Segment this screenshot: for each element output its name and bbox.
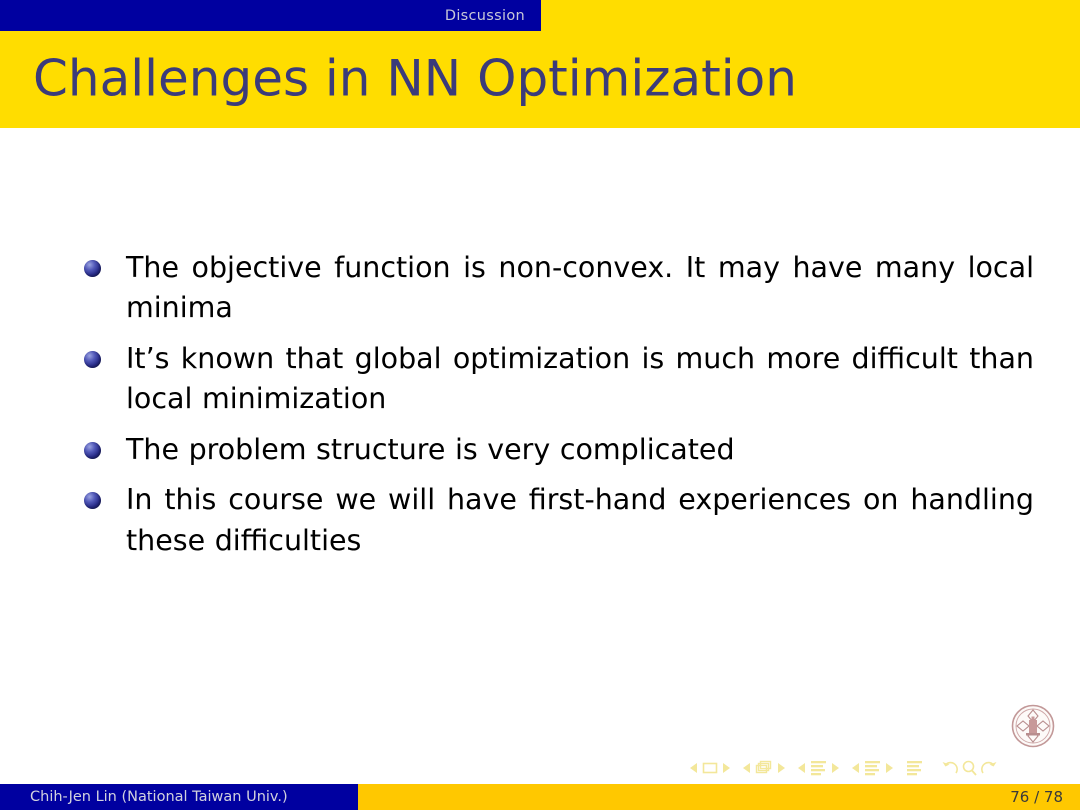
blue-ball-bullet-icon [84,492,101,509]
list-item: The objective function is non-convex. It… [84,248,1034,329]
nav-group-slide[interactable] [690,761,730,775]
list-item: In this course we will have first-hand e… [84,480,1034,561]
slide-icon[interactable] [702,761,718,775]
next-slide-arrow-icon[interactable] [723,763,730,773]
frames-icon[interactable] [755,760,773,776]
forward-icon[interactable] [980,760,998,776]
nav-group-frame[interactable] [743,760,785,776]
next-frame-arrow-icon[interactable] [778,763,785,773]
presentation-slide: Discussion Challenges in NN Optimization… [0,0,1080,810]
slide-content: The objective function is non-convex. It… [0,128,1080,784]
beamer-navigation-symbols[interactable] [690,756,1068,780]
list-item-text: The problem structure is very complicate… [126,433,735,466]
header-section-bar: Discussion [0,0,541,31]
prev-slide-arrow-icon[interactable] [690,763,697,773]
blue-ball-bullet-icon [84,442,101,459]
footer-page-number: 76 / 78 [1010,784,1063,810]
list-item-text: The objective function is non-convex. It… [126,251,1034,324]
nav-group-section[interactable] [852,760,893,776]
bullet-list: The objective function is non-convex. It… [84,248,1034,571]
nav-group-subsection[interactable] [798,760,839,776]
header-section-label: Discussion [445,8,525,24]
list-item-text: In this course we will have first-hand e… [126,483,1034,556]
prev-section-arrow-icon[interactable] [852,763,859,773]
prev-subsection-arrow-icon[interactable] [798,763,805,773]
list-item: It’s known that global optimization is m… [84,339,1034,420]
next-section-arrow-icon[interactable] [886,763,893,773]
blue-ball-bullet-icon [84,260,101,277]
nav-group-document[interactable] [906,760,923,776]
ntu-university-seal-logo [1011,704,1055,748]
title-band: Challenges in NN Optimization [0,31,1080,128]
document-icon[interactable] [906,760,923,776]
page-title: Challenges in NN Optimization [33,52,797,104]
section-icon[interactable] [864,760,881,776]
footer-author-label: Chih-Jen Lin (National Taiwan Univ.) [30,784,288,810]
next-subsection-arrow-icon[interactable] [832,763,839,773]
list-item: The problem structure is very complicate… [84,430,1034,470]
prev-frame-arrow-icon[interactable] [743,763,750,773]
nav-group-history[interactable] [941,760,998,776]
subsection-icon[interactable] [810,760,827,776]
list-item-text: It’s known that global optimization is m… [126,342,1034,415]
search-icon[interactable] [961,760,978,776]
blue-ball-bullet-icon [84,351,101,368]
back-icon[interactable] [941,760,959,776]
